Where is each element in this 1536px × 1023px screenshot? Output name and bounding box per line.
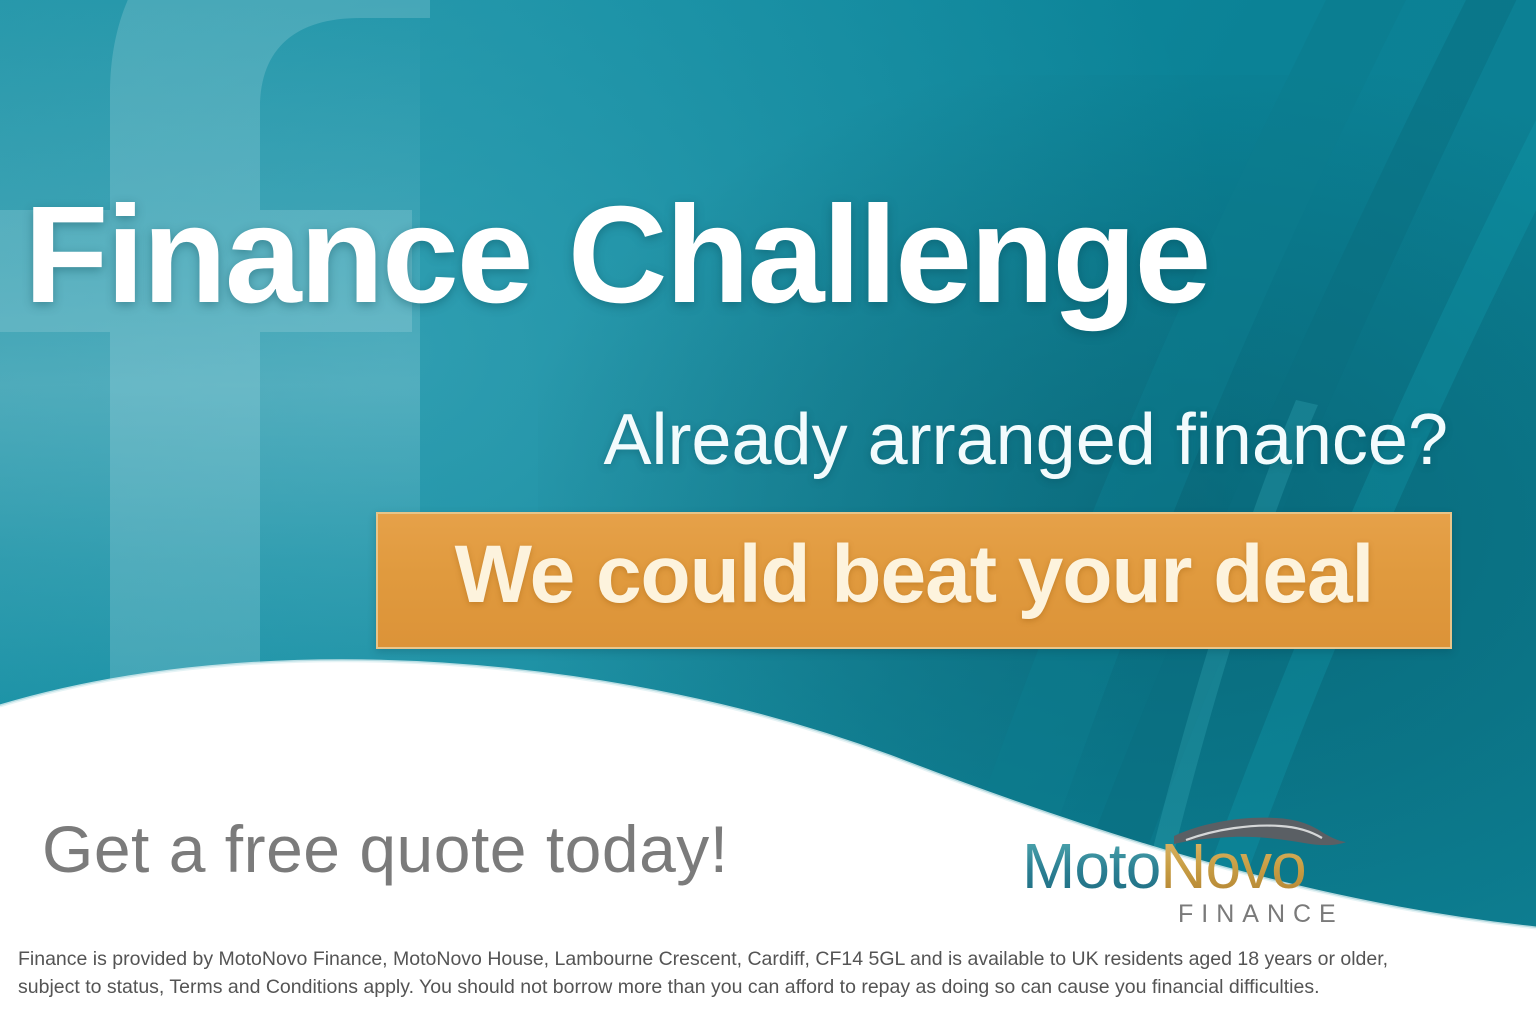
disclaimer-line-1: Finance is provided by MotoNovo Finance,… — [18, 945, 1518, 973]
logo-novo-text: Novo — [1160, 830, 1305, 902]
callout-text: We could beat your deal — [378, 530, 1450, 620]
disclaimer-line-2: subject to status, Terms and Conditions … — [18, 973, 1518, 1001]
subheadline: Already arranged finance? — [603, 404, 1448, 476]
page-title: Finance Challenge — [24, 186, 1209, 324]
cta-text: Get a free quote today! — [42, 816, 729, 882]
callout-band: We could beat your deal — [376, 512, 1452, 649]
logo-moto-text: Moto — [1022, 830, 1160, 902]
motonovo-logo: MotoNovo FINANCE — [1022, 812, 1352, 932]
logo-wordmark: MotoNovo — [1022, 834, 1306, 898]
left-pale-panel — [0, 0, 420, 700]
logo-tagline: FINANCE — [1178, 902, 1344, 927]
motonovo-finance-challenge-ad: Finance Challenge Already arranged finan… — [0, 0, 1536, 1023]
disclaimer-text: Finance is provided by MotoNovo Finance,… — [0, 945, 1536, 1002]
